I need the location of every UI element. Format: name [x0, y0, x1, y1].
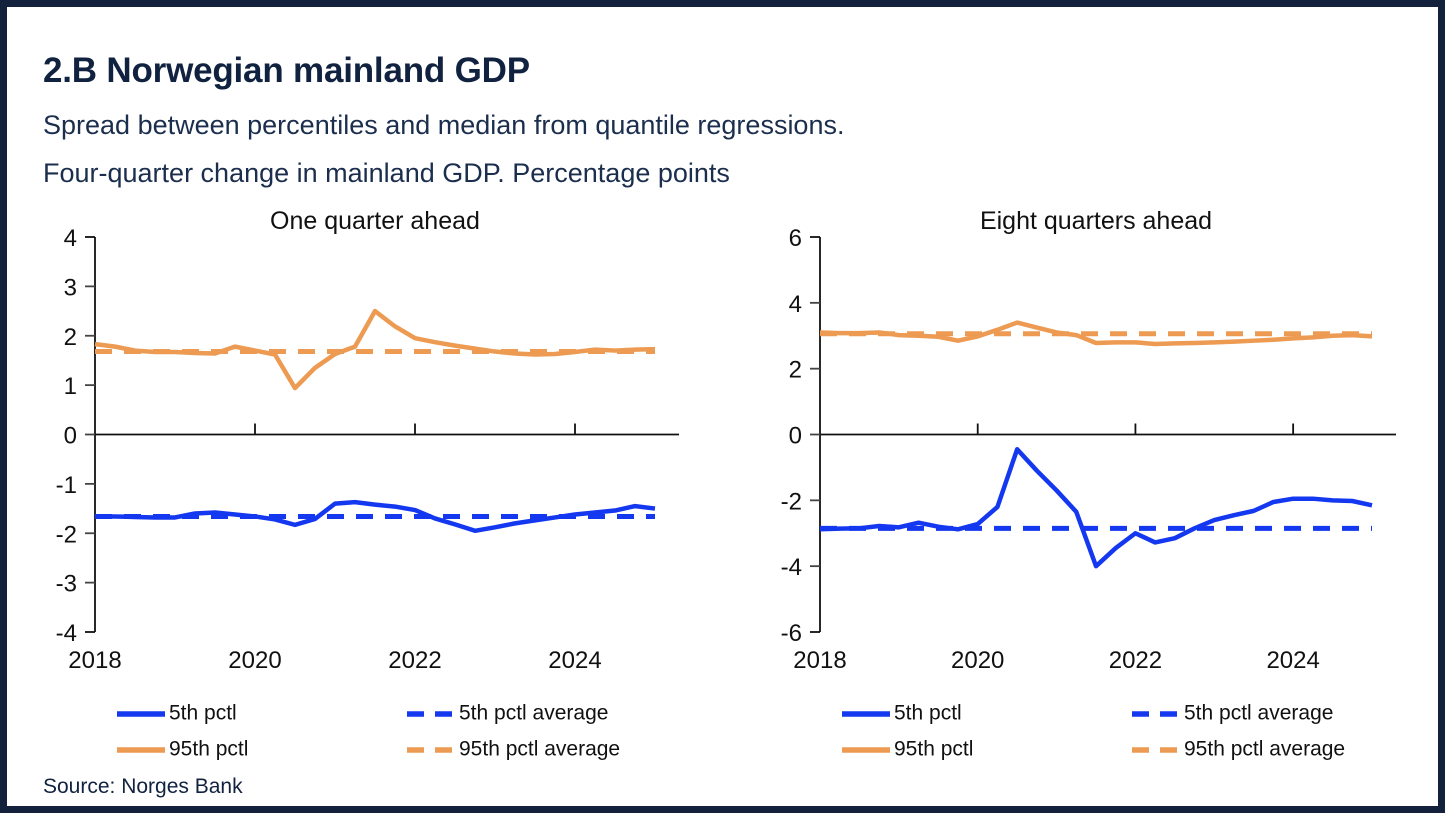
y-tick-label: -1: [56, 472, 77, 499]
x-tick-label: 2018: [68, 647, 121, 674]
legend-label-95th-pctl-average: 95th pctl average: [1184, 738, 1345, 761]
y-tick-label: 6: [789, 225, 802, 252]
x-tick-label: 2020: [228, 647, 281, 674]
x-tick-label: 2018: [793, 647, 846, 674]
legend-label-5th-pctl-average: 5th pctl average: [1184, 702, 1333, 725]
legend-label-95th-pctl: 95th pctl: [894, 738, 973, 761]
chart-page: 2.B Norwegian mainland GDP Spread betwee…: [7, 7, 1438, 806]
y-tick-label: -2: [781, 488, 802, 515]
legend-label-5th-pctl: 5th pctl: [169, 702, 237, 725]
chart-svg-eight-quarters-ahead: Eight quarters ahead6420-2-4-62018202020…: [752, 203, 1412, 773]
x-tick-label: 2022: [388, 647, 441, 674]
x-tick-label: 2024: [1266, 647, 1319, 674]
page-title: 2.B Norwegian mainland GDP: [43, 51, 530, 91]
y-tick-label: 0: [64, 423, 77, 450]
y-tick-label: 2: [789, 357, 802, 384]
y-tick-label: -3: [56, 571, 77, 598]
y-tick-label: -2: [56, 521, 77, 548]
legend-label-95th-pctl: 95th pctl: [169, 738, 248, 761]
y-tick-label: -4: [781, 554, 802, 581]
y-tick-label: 0: [789, 423, 802, 450]
y-tick-label: 1: [64, 373, 77, 400]
subtitle-line-1: Spread between percentiles and median fr…: [43, 110, 844, 141]
y-tick-label: -6: [781, 620, 802, 647]
legend-label-5th-pctl: 5th pctl: [894, 702, 962, 725]
panel-title: One quarter ahead: [270, 207, 480, 235]
chart-svg-one-quarter-ahead: One quarter ahead43210-1-2-3-42018202020…: [27, 203, 707, 773]
series-line-5th-pctl: [820, 449, 1372, 566]
legend-label-95th-pctl-average: 95th pctl average: [459, 738, 620, 761]
x-tick-label: 2020: [951, 647, 1004, 674]
panel-title: Eight quarters ahead: [980, 207, 1212, 235]
panel-eight-quarters-ahead: Eight quarters ahead6420-2-4-62018202020…: [752, 203, 1412, 773]
y-tick-label: 4: [789, 291, 802, 318]
x-tick-label: 2022: [1109, 647, 1162, 674]
legend-label-5th-pctl-average: 5th pctl average: [459, 702, 608, 725]
y-tick-label: 2: [64, 324, 77, 351]
panel-one-quarter-ahead: One quarter ahead43210-1-2-3-42018202020…: [27, 203, 707, 773]
y-tick-label: 3: [64, 274, 77, 301]
y-tick-label: -4: [56, 620, 77, 647]
y-tick-label: 4: [64, 225, 77, 252]
subtitle-line-2: Four-quarter change in mainland GDP. Per…: [43, 158, 730, 189]
source-note: Source: Norges Bank: [43, 775, 243, 799]
x-tick-label: 2024: [548, 647, 601, 674]
